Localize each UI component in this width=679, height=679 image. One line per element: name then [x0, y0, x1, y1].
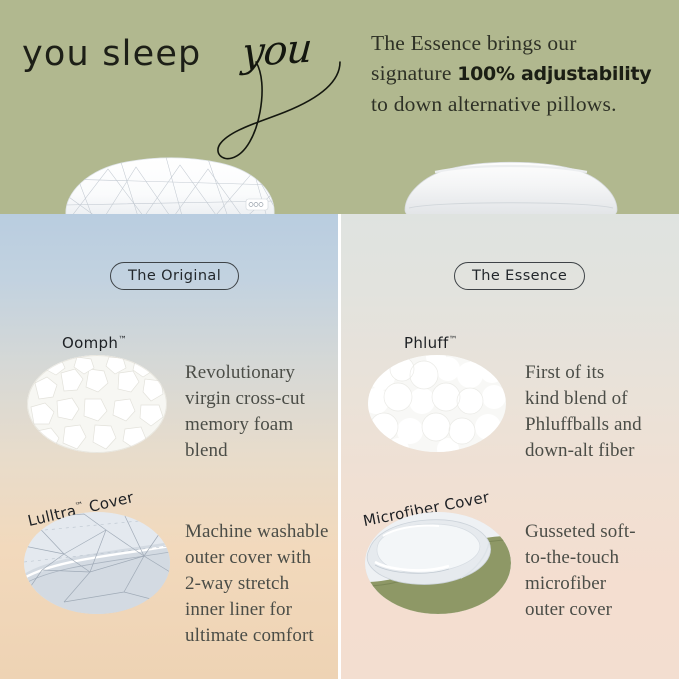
oomph-desc-line4: blend: [185, 440, 228, 461]
feature-label-oomph: Oomph™: [62, 334, 127, 352]
phluff-desc-line3: Phluffballs and: [525, 414, 642, 435]
feature-desc-phluff: First of its kind blend of Phluffballs a…: [525, 360, 675, 464]
header-copy-line2-pre: signature: [371, 61, 457, 85]
lulltra-cover-fabric-image: [24, 512, 170, 614]
oomph-foam-fill-image: [27, 355, 167, 453]
micro-desc-line2: to-the-touch: [525, 547, 619, 568]
lulltra-desc-line4: inner liner for: [185, 599, 292, 620]
oomph-desc-line1: Revolutionary: [185, 362, 295, 383]
header-copy-emphasis: 100% adjustability: [457, 63, 651, 85]
oomph-desc-line2: virgin cross-cut: [185, 388, 305, 409]
feature-desc-oomph: Revolutionary virgin cross-cut memory fo…: [185, 360, 335, 464]
lulltra-desc-line2: outer cover with: [185, 547, 311, 568]
micro-desc-line1: Gusseted soft-: [525, 521, 636, 542]
badge-the-original[interactable]: The Original: [110, 262, 239, 290]
headline-script-text: you: [240, 25, 313, 76]
pillow-comparison-infographic: you sleep you The Essence brings our sig…: [0, 0, 679, 679]
feature-label-phluff: Phluff™: [404, 334, 457, 352]
microfiber-cover-image: [365, 512, 511, 614]
lulltra-desc-line5: ultimate comfort: [185, 625, 314, 646]
feature-label-oomph-text: Oomph: [62, 334, 118, 352]
feature-desc-microfiber: Gusseted soft- to-the-touch microfiber o…: [525, 519, 675, 623]
lulltra-desc-line1: Machine washable: [185, 521, 329, 542]
badge-the-essence[interactable]: The Essence: [454, 262, 585, 290]
micro-desc-line3: microfiber: [525, 573, 606, 594]
essence-pillow-photo: [395, 160, 627, 214]
feature-desc-lulltra: Machine washable outer cover with 2-way …: [185, 519, 345, 649]
trademark-icon: ™: [449, 335, 458, 345]
header-band: you sleep you The Essence brings our sig…: [0, 0, 679, 214]
headline-plain-text: you sleep: [22, 34, 201, 74]
feature-label-phluff-text: Phluff: [404, 334, 449, 352]
lulltra-desc-line3: 2-way stretch: [185, 573, 289, 594]
phluff-desc-line1: First of its: [525, 362, 604, 383]
original-pillow-photo: [48, 155, 292, 214]
phluff-desc-line2: kind blend of: [525, 388, 628, 409]
trademark-icon: ™: [118, 335, 127, 345]
header-copy-line1: The Essence brings our: [371, 31, 577, 55]
oomph-desc-line3: memory foam: [185, 414, 293, 435]
header-copy: The Essence brings our signature 100% ad…: [371, 28, 663, 119]
phluff-fill-image: [368, 355, 506, 452]
micro-desc-line4: outer cover: [525, 599, 612, 620]
phluff-desc-line4: down-alt fiber: [525, 440, 635, 461]
headline: you sleep you: [22, 20, 352, 150]
header-copy-line3: to down alternative pillows.: [371, 92, 617, 116]
